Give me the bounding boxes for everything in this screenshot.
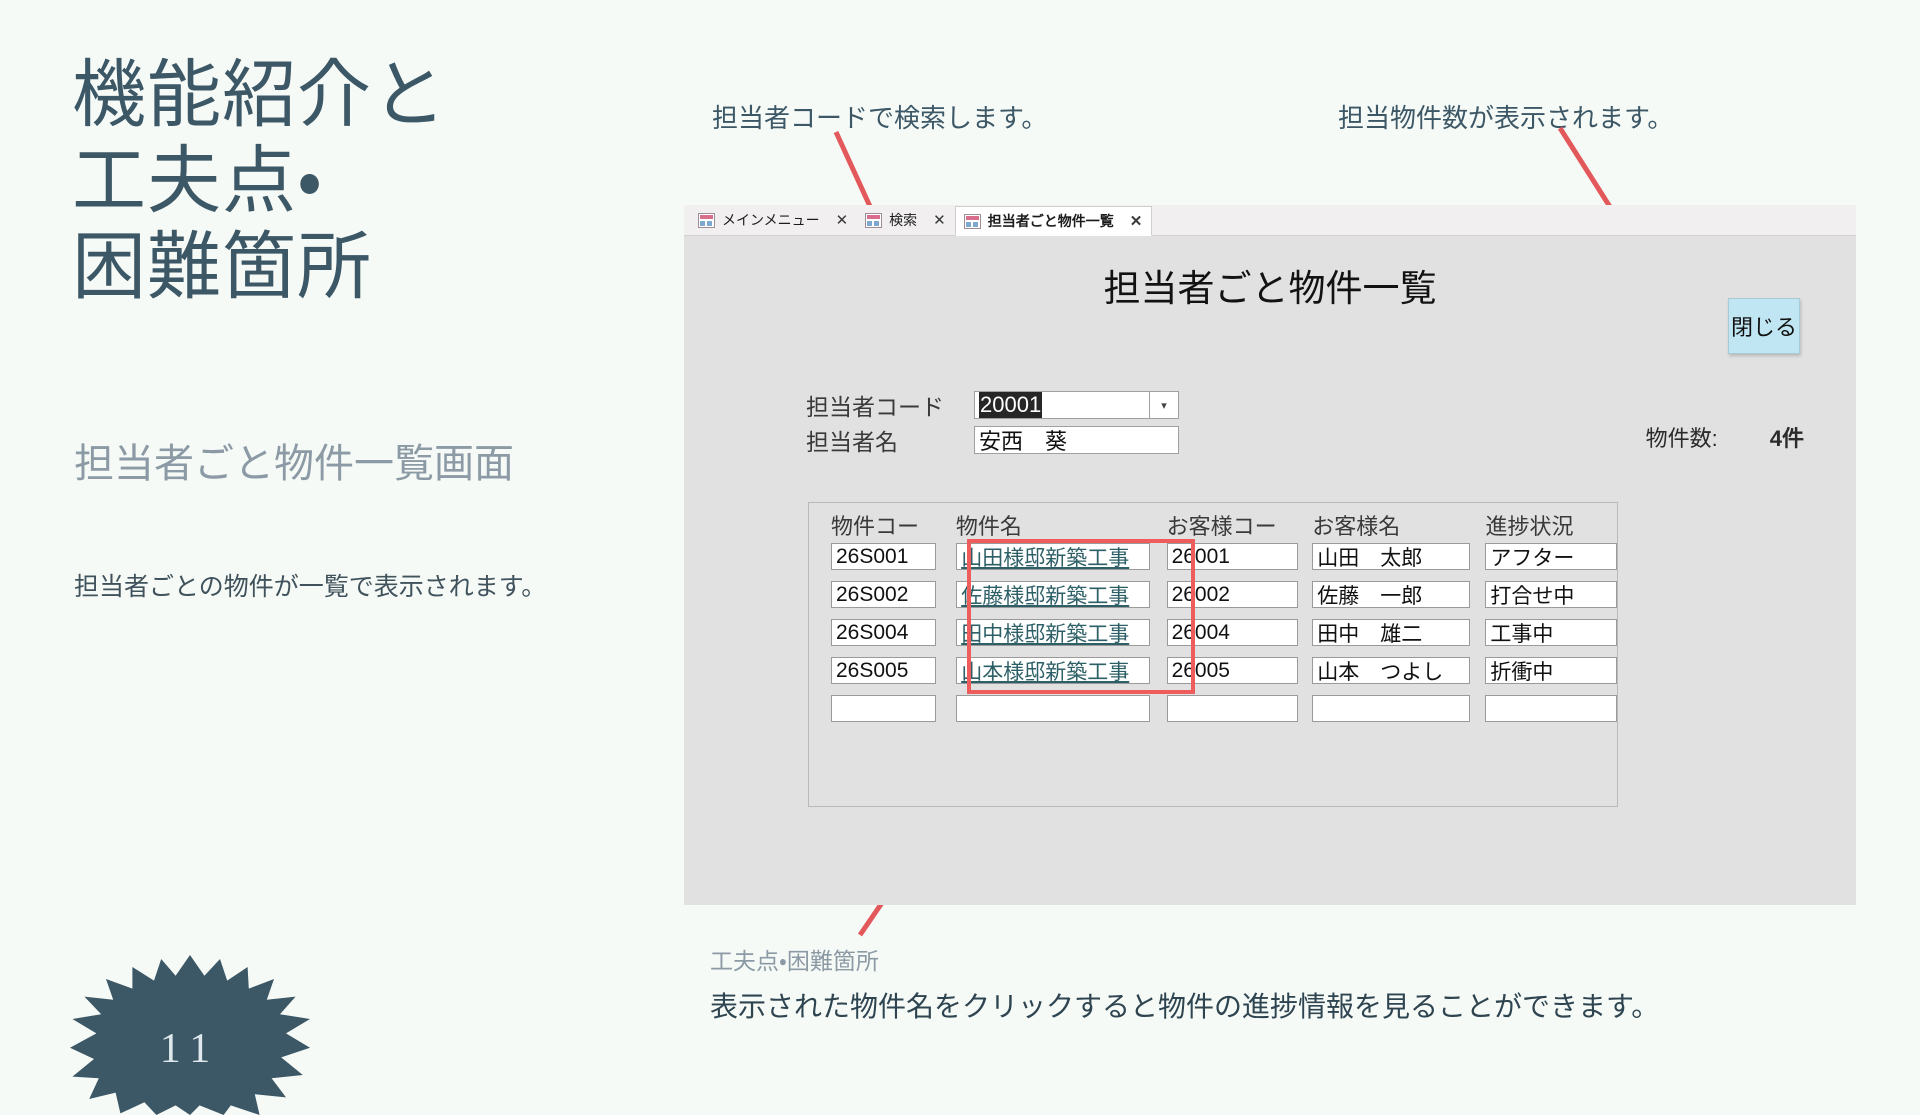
slide-subtitle: 担当者ごと物件一覧画面 — [74, 440, 694, 488]
cell-customer-code[interactable]: 26002 — [1167, 581, 1299, 608]
cell-progress[interactable]: 打合せ中 — [1485, 581, 1617, 608]
staff-code-combobox-input[interactable]: 20001 — [974, 391, 1149, 419]
staff-name-row: 担当者名 安西 葵 — [806, 423, 1179, 457]
staff-name-label: 担当者名 — [806, 423, 974, 457]
cell-property-name-link[interactable]: 山田様邸新築工事 — [956, 543, 1149, 570]
cell-customer-name[interactable]: 山本 つよし — [1312, 657, 1470, 684]
staff-code-value: 20001 — [979, 392, 1042, 418]
cell-property-name-link[interactable]: 田中様邸新築工事 — [956, 619, 1149, 646]
cell-customer-code[interactable] — [1167, 695, 1299, 722]
page-number: 11 — [70, 1025, 310, 1073]
tab-search[interactable]: 検索 ✕ — [857, 205, 955, 235]
staff-name-field[interactable]: 安西 葵 — [974, 426, 1179, 454]
close-icon[interactable]: ✕ — [933, 211, 946, 229]
document-tab-bar: メインメニュー ✕ 検索 ✕ 担当者ごと物件一覧 ✕ — [684, 205, 1856, 236]
cell-property-name-link[interactable]: 佐藤様邸新築工事 — [956, 581, 1149, 608]
cell-property-code[interactable]: 26S001 — [831, 543, 936, 570]
close-icon[interactable]: ✕ — [1130, 212, 1143, 230]
property-count: 物件数: 4件 — [1646, 421, 1804, 453]
tab-label: 検索 — [889, 210, 917, 230]
tab-main-menu[interactable]: メインメニュー ✕ — [690, 205, 857, 235]
cell-property-code[interactable]: 26S002 — [831, 581, 936, 608]
cell-progress[interactable]: 工事中 — [1485, 619, 1617, 646]
chevron-down-icon[interactable]: ▾ — [1149, 391, 1179, 419]
cell-progress[interactable] — [1485, 695, 1617, 722]
table-row: 26S004 田中様邸新築工事 26004 田中 雄二 工事中 — [809, 619, 1617, 646]
cell-progress[interactable]: アフター — [1485, 543, 1617, 570]
cell-customer-name[interactable]: 山田 太郎 — [1312, 543, 1470, 570]
cell-customer-code[interactable]: 26004 — [1167, 619, 1299, 646]
cell-progress[interactable]: 折衝中 — [1485, 657, 1617, 684]
access-application-window: メインメニュー ✕ 検索 ✕ 担当者ごと物件一覧 ✕ 担当者ごと物件一覧 閉じる… — [684, 205, 1856, 905]
form-icon — [964, 214, 981, 229]
property-count-label: 物件数: — [1646, 421, 1718, 453]
staff-code-row: 担当者コード 20001 ▾ — [806, 388, 1179, 422]
cell-customer-name[interactable]: 佐藤 一郎 — [1312, 581, 1470, 608]
page-number-badge: 11 — [70, 955, 310, 1115]
form-icon — [865, 213, 882, 228]
cell-property-code[interactable]: 26S004 — [831, 619, 936, 646]
cell-customer-name[interactable] — [1312, 695, 1470, 722]
form-title: 担当者ごと物件一覧 — [684, 258, 1856, 312]
cell-customer-name[interactable]: 田中 雄二 — [1312, 619, 1470, 646]
cell-property-name-link[interactable]: 山本様邸新築工事 — [956, 657, 1149, 684]
tab-property-list-by-staff[interactable]: 担当者ごと物件一覧 ✕ — [955, 206, 1153, 236]
form-body: 担当者ごと物件一覧 閉じる 担当者コード 20001 ▾ 担当者名 安西 葵 物… — [684, 236, 1856, 905]
page-title: 機能紹介と 工夫点・ 困難箇所 — [72, 52, 632, 309]
annotation-search: 担当者コードで検索します。 — [712, 98, 1047, 135]
cell-property-name[interactable] — [956, 695, 1149, 722]
cell-customer-code[interactable]: 26001 — [1167, 543, 1299, 570]
cell-property-code[interactable]: 26S005 — [831, 657, 936, 684]
annotation-bottom-text: 表示された物件名をクリックすると物件の進捗情報を見ることができます。 — [710, 985, 1659, 1025]
property-count-value: 4件 — [1770, 421, 1804, 453]
table-row: 26S005 山本様邸新築工事 26005 山本 つよし 折衝中 — [809, 657, 1617, 684]
table-row: 26S002 佐藤様邸新築工事 26002 佐藤 一郎 打合せ中 — [809, 581, 1617, 608]
table-row: 26S001 山田様邸新築工事 26001 山田 太郎 アフター — [809, 543, 1617, 570]
annotation-count: 担当物件数が表示されます。 — [1338, 98, 1673, 135]
form-icon — [698, 213, 715, 228]
annotation-bottom-label: 工夫点・困難箇所 — [710, 942, 879, 976]
slide-lead-text: 担当者ごとの物件が一覧で表示されます。 — [74, 570, 694, 605]
property-list-panel: 物件コード 物件名 お客様コード お客様名 進捗状況 26S001 山田様邸新築… — [808, 502, 1618, 807]
tab-label: メインメニュー — [722, 210, 820, 230]
cell-customer-code[interactable]: 26005 — [1167, 657, 1299, 684]
table-row-empty — [809, 695, 1617, 722]
staff-code-label: 担当者コード — [806, 388, 974, 422]
tab-label: 担当者ごと物件一覧 — [988, 211, 1114, 231]
close-button[interactable]: 閉じる — [1728, 298, 1800, 354]
cell-property-code[interactable] — [831, 695, 936, 722]
close-icon[interactable]: ✕ — [836, 211, 849, 229]
